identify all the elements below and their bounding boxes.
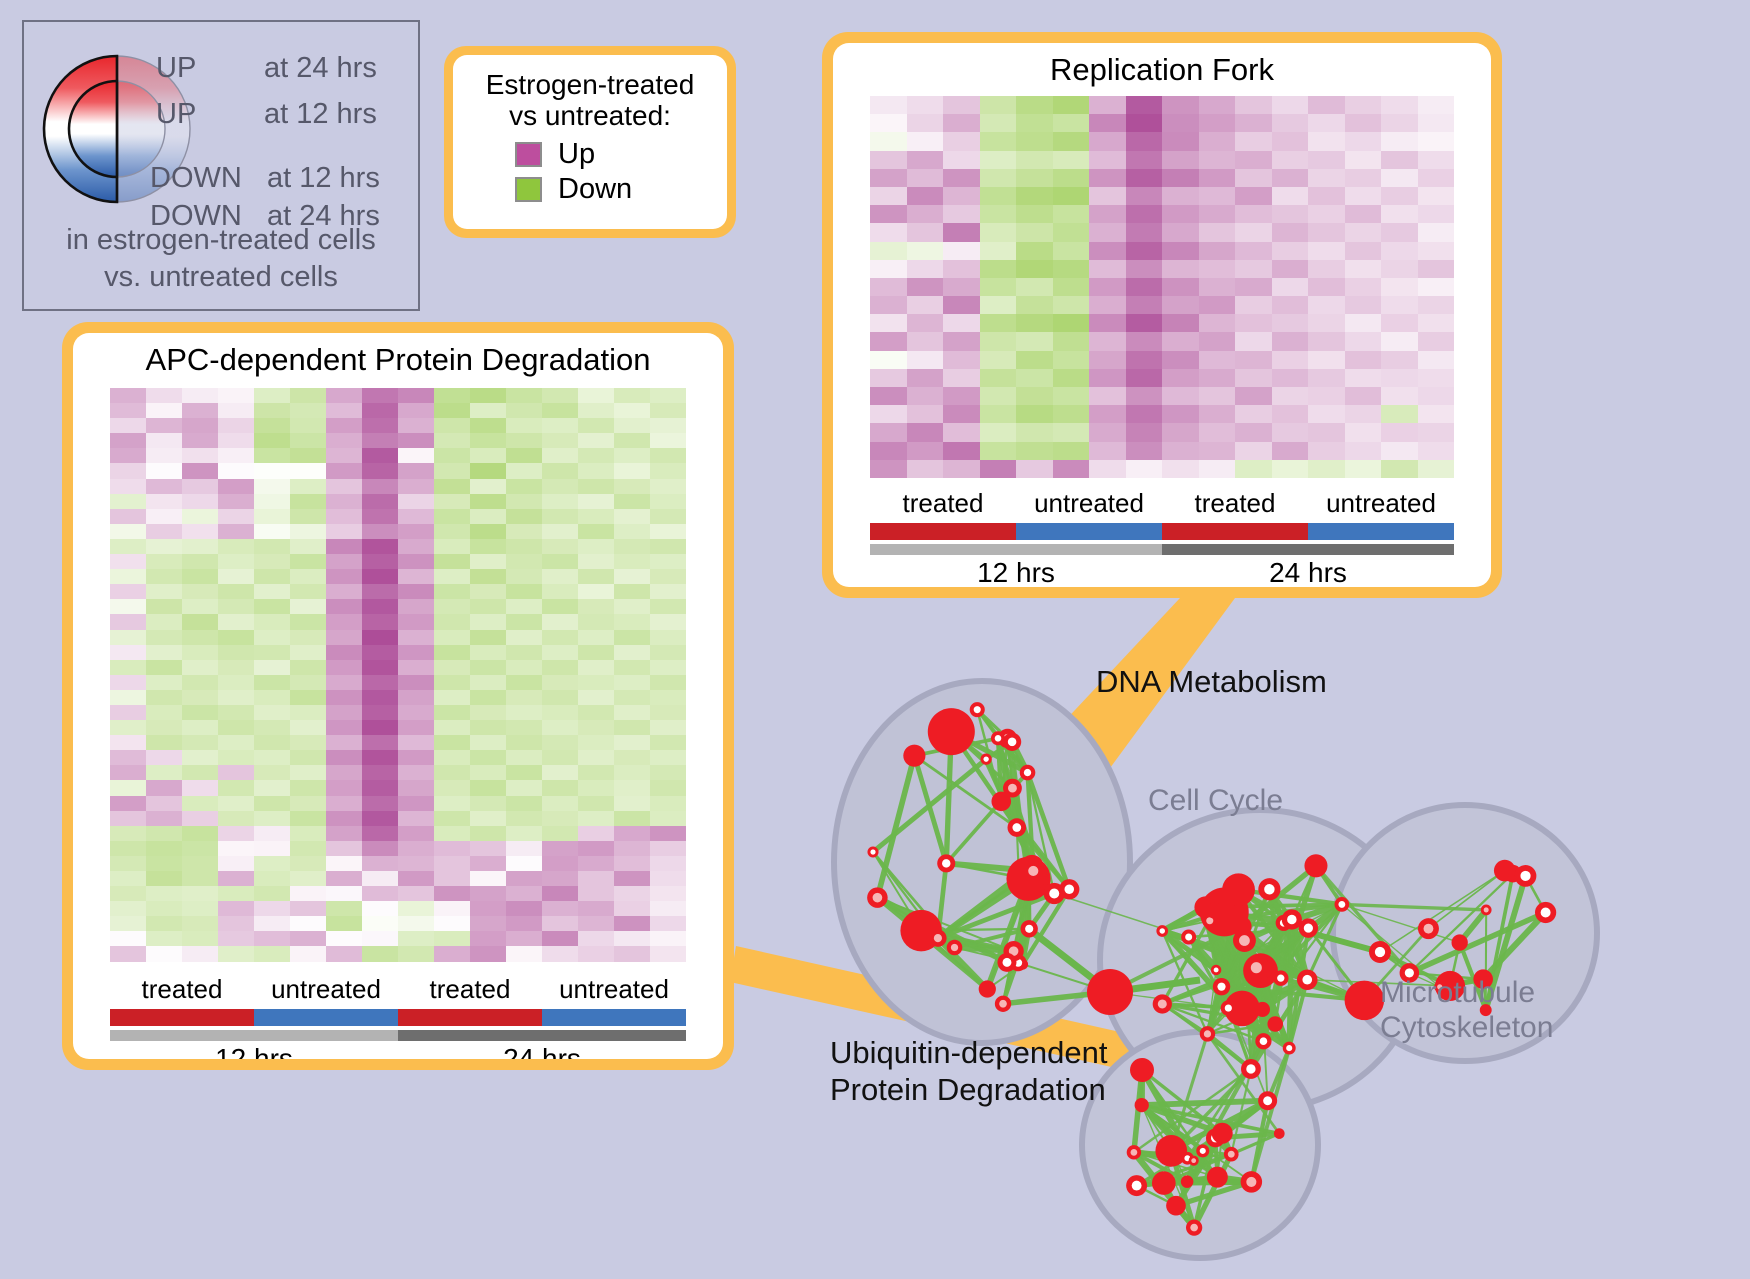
untreated-color-block	[542, 1009, 686, 1026]
network-node[interactable]	[1297, 969, 1318, 990]
heatmap-cell	[254, 418, 290, 433]
network-node[interactable]	[1274, 1128, 1285, 1139]
network-node[interactable]	[1515, 865, 1537, 887]
heatmap-cell	[434, 856, 470, 871]
network-node[interactable]	[1153, 994, 1172, 1013]
heatmap-cell	[1016, 332, 1053, 350]
network-node[interactable]	[1221, 1000, 1236, 1015]
network-node[interactable]	[1224, 1147, 1239, 1162]
heatmap-cell	[650, 614, 686, 629]
network-node-core	[1204, 1030, 1211, 1037]
heatmap-cell	[110, 509, 146, 524]
heatmap-cell	[398, 448, 434, 463]
heatmap-cell	[326, 871, 362, 886]
heatmap-cell	[182, 494, 218, 509]
heatmap-cell	[1418, 460, 1455, 478]
heatmap-cell	[542, 871, 578, 886]
heatmap-cell	[1345, 96, 1382, 114]
network-node[interactable]	[1233, 929, 1256, 952]
network-node[interactable]	[1258, 878, 1280, 900]
network-node-core	[1260, 1037, 1268, 1045]
heatmap-cell	[1053, 369, 1090, 387]
heatmap-cell	[1235, 442, 1272, 460]
heatmap-cell	[182, 479, 218, 494]
network-node[interactable]	[1245, 956, 1268, 979]
heatmap-cell	[1053, 351, 1090, 369]
heatmap-cell	[470, 841, 506, 856]
network-node-core	[1239, 935, 1250, 946]
network-node[interactable]	[1126, 1175, 1147, 1196]
network-node-disc	[1087, 969, 1133, 1015]
network-node[interactable]	[928, 708, 975, 755]
network-node[interactable]	[979, 980, 996, 997]
heatmap-cell	[506, 448, 542, 463]
heatmap-cell	[398, 826, 434, 841]
network-node[interactable]	[1255, 1033, 1271, 1049]
network-node[interactable]	[970, 702, 985, 717]
heatmap-cell	[1089, 205, 1126, 223]
heatmap-cell	[1308, 460, 1345, 478]
heatmap-cell	[1418, 223, 1455, 241]
network-node[interactable]	[1023, 860, 1045, 882]
heatmap-cell	[943, 151, 980, 169]
heatmap-cell	[506, 916, 542, 931]
heatmap-cell	[980, 351, 1017, 369]
heatmap-cell	[218, 826, 254, 841]
heatmap-cell	[362, 901, 398, 916]
network-node[interactable]	[1283, 1042, 1296, 1055]
heatmap-cell	[434, 750, 470, 765]
heatmap-cell	[506, 494, 542, 509]
heatmap-cell	[1126, 132, 1163, 150]
heatmap-cell	[1235, 296, 1272, 314]
heatmap-cell	[218, 584, 254, 599]
network-node[interactable]	[1135, 1098, 1149, 1112]
network-node[interactable]	[867, 887, 888, 908]
heatmap-cell	[434, 584, 470, 599]
heatmap-cell	[290, 569, 326, 584]
heatmap-cell	[506, 841, 542, 856]
heatmap-cell	[578, 569, 614, 584]
heatmap-cell	[1345, 387, 1382, 405]
heatmap-cell	[398, 780, 434, 795]
network-node[interactable]	[991, 731, 1005, 745]
network-node[interactable]	[1369, 941, 1391, 963]
color-key-row-up24: UP	[156, 52, 196, 85]
heatmap-cell	[1308, 369, 1345, 387]
heatmap-cell	[870, 351, 907, 369]
network-node[interactable]	[1020, 765, 1036, 781]
network-node[interactable]	[1087, 969, 1133, 1015]
heatmap-cell	[218, 630, 254, 645]
network-node[interactable]	[867, 846, 878, 857]
heatmap-cell	[398, 433, 434, 448]
heatmap-cell	[1199, 405, 1236, 423]
heatmap-cell	[1089, 314, 1126, 332]
heatmap-cell	[542, 675, 578, 690]
heatmap-cell	[146, 796, 182, 811]
heatmap-cell	[1162, 151, 1199, 169]
network-node-core	[1251, 962, 1262, 973]
heatmap-cell	[362, 750, 398, 765]
heatmap-cell	[650, 750, 686, 765]
heatmap-cell	[578, 675, 614, 690]
heatmap-cell	[326, 614, 362, 629]
color-key-footer: in estrogen-treated cells vs. untreated …	[24, 222, 418, 296]
heatmap-cell	[578, 901, 614, 916]
heatmap-cell	[254, 871, 290, 886]
heatmap-cell	[1418, 96, 1455, 114]
network-node[interactable]	[1267, 1016, 1283, 1032]
untreated-color-block	[254, 1009, 398, 1026]
heatmap-cell	[1381, 296, 1418, 314]
heatmap-cell	[146, 645, 182, 660]
heatmap-cell	[578, 871, 614, 886]
heatmap-cell	[1199, 296, 1236, 314]
heatmap-cell	[362, 660, 398, 675]
heatmap-cell	[254, 780, 290, 795]
heatmap-cell	[110, 418, 146, 433]
heatmap-cell	[362, 886, 398, 901]
heatmap-cell	[326, 856, 362, 871]
network-node[interactable]	[1206, 902, 1222, 918]
heatmap-cell	[110, 645, 146, 660]
network-node[interactable]	[991, 792, 1011, 812]
heatmap-cell	[326, 750, 362, 765]
network-node[interactable]	[1273, 970, 1288, 985]
heatmap-cell	[1016, 423, 1053, 441]
heatmap-cell	[1162, 351, 1199, 369]
heatmap-cell	[1126, 369, 1163, 387]
heatmap-cell	[650, 494, 686, 509]
heatmap-cell	[254, 448, 290, 463]
network-node[interactable]	[1189, 1156, 1199, 1166]
timepoint-label: 24 hrs	[398, 1041, 686, 1059]
network-node[interactable]	[995, 996, 1011, 1012]
network-node[interactable]	[1222, 873, 1255, 906]
heatmap-cell	[146, 811, 182, 826]
heatmap-cell	[290, 796, 326, 811]
network-node[interactable]	[1481, 905, 1492, 916]
heatmap-cell	[943, 96, 980, 114]
heatmap-cell	[1308, 205, 1345, 223]
heatmap-cell	[980, 460, 1017, 478]
heatmap-cell	[146, 539, 182, 554]
heatmap-cell	[398, 584, 434, 599]
network-node[interactable]	[1212, 1123, 1233, 1144]
heatmap-cell	[326, 569, 362, 584]
heatmap-cell	[1308, 260, 1345, 278]
network-node[interactable]	[1211, 965, 1221, 975]
heatmap-cell	[1016, 242, 1053, 260]
network-node[interactable]	[1452, 934, 1468, 950]
heatmap-cell	[1199, 114, 1236, 132]
heatmap-cell	[614, 765, 650, 780]
heatmap-cell	[326, 599, 362, 614]
network-node[interactable]	[1335, 897, 1350, 912]
heatmap-cell	[218, 675, 254, 690]
heatmap-cell	[218, 479, 254, 494]
heatmap-cell	[362, 554, 398, 569]
heatmap-cell	[326, 841, 362, 856]
network-node[interactable]	[1130, 1058, 1154, 1082]
heatmap-cell	[218, 735, 254, 750]
heatmap-cell	[542, 856, 578, 871]
network-node[interactable]	[947, 940, 963, 956]
heatmap-cell	[1016, 296, 1053, 314]
heatmap-cell	[110, 569, 146, 584]
heatmap-cell	[614, 856, 650, 871]
color-key-time-down12: at 12 hrs	[267, 162, 380, 195]
network-node-core	[1028, 866, 1038, 876]
heatmap-cell	[434, 418, 470, 433]
heatmap-cell	[1235, 423, 1272, 441]
heatmap-cell	[146, 916, 182, 931]
heatmap-cell	[650, 388, 686, 403]
heatmap-cell	[650, 448, 686, 463]
network-node[interactable]	[1535, 902, 1556, 923]
heatmap-cell	[943, 223, 980, 241]
heatmap-cell	[870, 187, 907, 205]
heatmap-cell	[470, 524, 506, 539]
heatmap-cell	[1199, 151, 1236, 169]
heatmap-cell	[362, 946, 398, 961]
network-node[interactable]	[1127, 1145, 1141, 1159]
heatmap-cell	[506, 856, 542, 871]
heatmap-cell	[1272, 460, 1309, 478]
heatmap-cell	[362, 479, 398, 494]
heatmap-cell	[1053, 205, 1090, 223]
heatmap-cell	[506, 765, 542, 780]
heatmap-cell	[1199, 132, 1236, 150]
network-node[interactable]	[997, 953, 1016, 972]
network-node[interactable]	[1059, 879, 1079, 899]
heatmap-cell	[290, 614, 326, 629]
heatmap-cell	[1345, 442, 1382, 460]
network-node[interactable]	[1255, 1002, 1270, 1017]
network-node[interactable]	[1282, 909, 1302, 929]
heatmap-cell	[1199, 223, 1236, 241]
network-node[interactable]	[1152, 1171, 1176, 1195]
heatmap-cell	[506, 901, 542, 916]
heatmap-cell	[614, 494, 650, 509]
heatmap-cell	[1126, 296, 1163, 314]
heatmap-cell	[1126, 387, 1163, 405]
heatmap-cell	[506, 599, 542, 614]
heatmap-cell	[182, 811, 218, 826]
heatmap-cell	[110, 599, 146, 614]
heatmap-cell	[1235, 278, 1272, 296]
network-node[interactable]	[929, 929, 946, 946]
network-node[interactable]	[1418, 918, 1439, 939]
heatmap-cell	[254, 524, 290, 539]
heatmap-cell	[650, 645, 686, 660]
heatmap-cell	[1162, 460, 1199, 478]
heatmap-cell	[614, 720, 650, 735]
heatmap-cell	[470, 660, 506, 675]
heatmap-cell	[326, 765, 362, 780]
heatmap-cell	[1053, 460, 1090, 478]
network-node[interactable]	[1181, 1175, 1194, 1188]
heatmap-cell	[218, 614, 254, 629]
heatmap-cell	[110, 554, 146, 569]
heatmap-cell	[254, 901, 290, 916]
heatmap-cell	[290, 524, 326, 539]
heatmap-cell	[614, 599, 650, 614]
sample-group-label: treated	[1162, 488, 1308, 519]
network-node-disc	[1135, 1098, 1149, 1112]
timepoint-color-bar-replication-fork	[870, 544, 1454, 555]
heatmap-cell	[542, 750, 578, 765]
heatmap-cell	[398, 463, 434, 478]
network-node[interactable]	[980, 753, 991, 764]
timepoint-color-block	[110, 1030, 398, 1041]
network-node[interactable]	[1196, 1144, 1209, 1157]
network-node[interactable]	[1200, 1026, 1215, 1041]
network-node[interactable]	[1156, 925, 1168, 937]
network-node-disc	[1255, 1002, 1270, 1017]
heatmap-cell	[254, 539, 290, 554]
network-node[interactable]	[1494, 860, 1516, 882]
heatmap-cell	[1162, 369, 1199, 387]
heatmap-cell	[182, 690, 218, 705]
network-node[interactable]	[903, 745, 925, 767]
heatmap-cell	[290, 599, 326, 614]
network-node-core	[1158, 999, 1167, 1008]
network-node[interactable]	[1008, 818, 1027, 837]
heatmap-cell	[110, 796, 146, 811]
heatmap-cell	[290, 433, 326, 448]
heatmap-cell	[254, 765, 290, 780]
network-node[interactable]	[1181, 930, 1196, 945]
heatmap-cell	[362, 765, 398, 780]
heatmap-cell	[326, 539, 362, 554]
network-node-core	[1064, 885, 1074, 895]
heatmap-cell	[578, 690, 614, 705]
heatmap-cell	[907, 442, 944, 460]
heatmap-cell	[1126, 260, 1163, 278]
heatmap-cell	[614, 750, 650, 765]
heatmap-cell	[943, 405, 980, 423]
heatmap-cell	[506, 675, 542, 690]
sample-group-label: untreated	[542, 974, 686, 1005]
heatmap-cell	[182, 403, 218, 418]
heatmap-cell	[218, 750, 254, 765]
heatmap-cell	[1089, 242, 1126, 260]
heatmap-cell	[614, 554, 650, 569]
heatmap-cell	[1345, 114, 1382, 132]
heatmap-cell	[290, 388, 326, 403]
heatmap-cell	[398, 690, 434, 705]
heatmap-cell	[182, 841, 218, 856]
heatmap-cell	[907, 205, 944, 223]
heatmap-cell	[650, 403, 686, 418]
heatmap-cell	[614, 630, 650, 645]
heatmap-cell	[614, 448, 650, 463]
treated-color-block	[870, 523, 1016, 540]
heatmap-cell	[907, 332, 944, 350]
heatmap-cell	[110, 705, 146, 720]
network-node[interactable]	[1345, 981, 1385, 1021]
heatmap-cell	[506, 946, 542, 961]
heatmap-cell	[650, 630, 686, 645]
heatmap-cell	[110, 448, 146, 463]
heatmap-cell	[362, 645, 398, 660]
timepoint-label: 12 hrs	[870, 555, 1162, 587]
heatmap-cell	[398, 494, 434, 509]
heatmap-cell	[1381, 278, 1418, 296]
heatmap-cell	[470, 750, 506, 765]
heatmap-cell	[1418, 405, 1455, 423]
network-node[interactable]	[1186, 1219, 1202, 1235]
network-node-core	[1190, 1224, 1198, 1232]
heatmap-cell	[943, 423, 980, 441]
heatmap-cell	[290, 871, 326, 886]
sample-group-label: untreated	[254, 974, 398, 1005]
heatmap-cell	[362, 433, 398, 448]
network-node[interactable]	[1166, 1196, 1186, 1216]
heatmap-cell	[110, 871, 146, 886]
heatmap-cell	[470, 886, 506, 901]
heatmap-cell	[542, 614, 578, 629]
network-node-core	[873, 893, 883, 903]
heatmap-cell	[943, 387, 980, 405]
network-node[interactable]	[1241, 1059, 1261, 1079]
heatmap-cell	[110, 690, 146, 705]
network-node[interactable]	[937, 854, 955, 872]
network-node[interactable]	[1258, 1091, 1277, 1110]
heatmap-cell	[146, 630, 182, 645]
heatmap-cell	[1126, 332, 1163, 350]
heatmap-cell	[907, 460, 944, 478]
network-node-disc	[1152, 1171, 1176, 1195]
heatmap-cell	[218, 660, 254, 675]
heatmap-cell	[182, 871, 218, 886]
network-node-core	[870, 849, 875, 854]
heatmap-cell	[146, 403, 182, 418]
heatmap-cell	[980, 169, 1017, 187]
network-node[interactable]	[1207, 1167, 1228, 1188]
heatmap-cell	[182, 433, 218, 448]
legend-items: Up Down	[463, 138, 717, 206]
heatmap-cell	[980, 423, 1017, 441]
heatmap-cell	[434, 841, 470, 856]
network-node[interactable]	[1003, 733, 1021, 751]
heatmap-cell	[218, 901, 254, 916]
heatmap-cell	[1272, 296, 1309, 314]
heatmap-cell	[1418, 369, 1455, 387]
network-node[interactable]	[1213, 978, 1230, 995]
heatmap-cell	[1381, 205, 1418, 223]
network-node[interactable]	[1241, 1171, 1263, 1193]
heatmap-cell	[542, 418, 578, 433]
heatmap-cell	[434, 826, 470, 841]
heatmap-cell	[614, 796, 650, 811]
heatmap-cell	[470, 418, 506, 433]
heatmap-cell	[1199, 260, 1236, 278]
heatmap-cell	[110, 916, 146, 931]
heatmap-cell	[1381, 460, 1418, 478]
network-node[interactable]	[1304, 854, 1327, 877]
heatmap-cell	[1126, 187, 1163, 205]
heatmap-cell	[578, 614, 614, 629]
heatmap-cell	[110, 826, 146, 841]
heatmap-cell	[218, 554, 254, 569]
network-node[interactable]	[1021, 920, 1038, 937]
heatmap-cell	[146, 509, 182, 524]
heatmap-cell	[578, 524, 614, 539]
heatmap-cell	[254, 569, 290, 584]
